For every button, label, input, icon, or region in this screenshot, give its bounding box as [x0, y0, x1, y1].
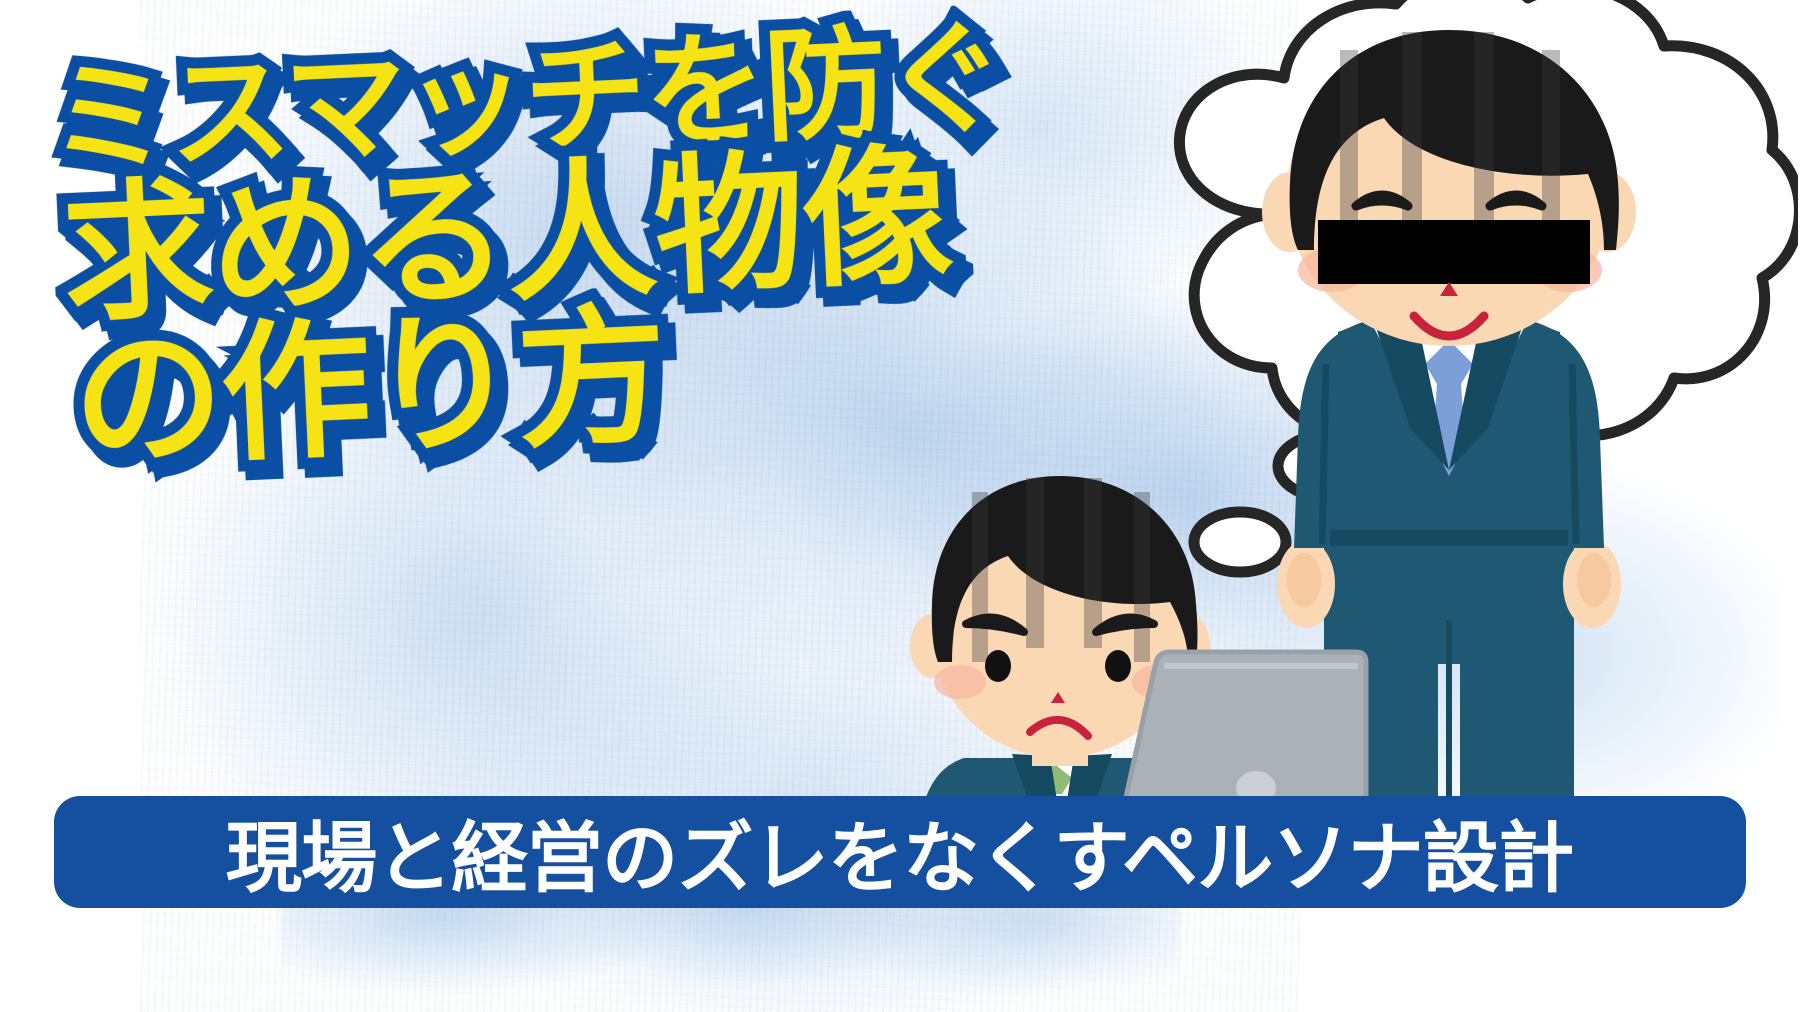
headline-block: ミスマッチを防ぐ 求める人物像 の作り方 — [46, 14, 1124, 487]
censor-bar — [1318, 220, 1590, 284]
headline-line-3: の作り方 — [70, 282, 1124, 476]
subtitle-bar: 現場と経営のズレをなくすペルソナ設計 — [54, 796, 1746, 908]
subtitle-text: 現場と経営のズレをなくすペルソナ設計 — [226, 797, 1573, 908]
thumbnail-canvas: ミスマッチを防ぐ 求める人物像 の作り方 現場と経営のズレをなくすペルソナ設計 — [0, 0, 1800, 1012]
